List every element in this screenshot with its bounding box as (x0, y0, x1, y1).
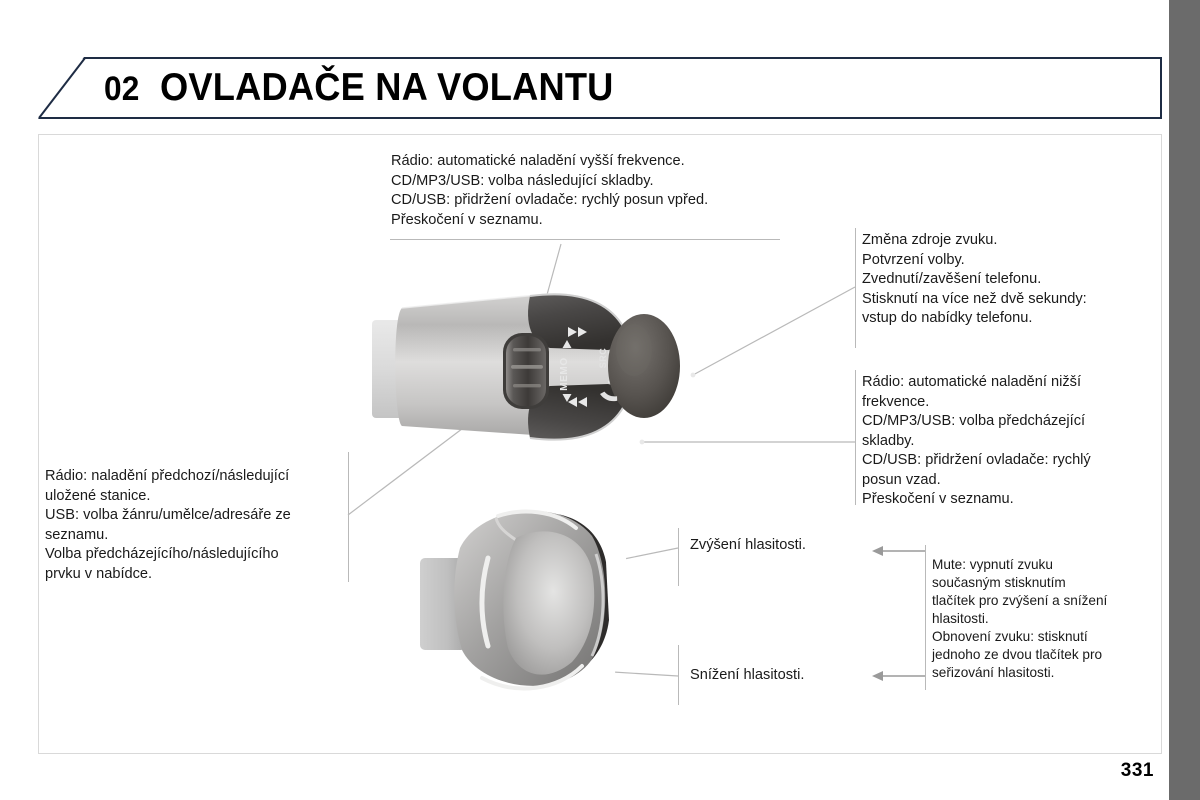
callout-line: tlačítek pro zvýšení a snížení (932, 592, 1162, 610)
callout-line: Zvednutí/zavěšení telefonu. (862, 270, 1152, 290)
separator-right-lower (855, 370, 856, 505)
callout-line: Stisknutí na více než dvě sekundy: (862, 290, 1152, 310)
callout-line: Rádio: automatické naladění vyšší frekve… (391, 152, 791, 172)
separator-mute-block (925, 545, 926, 690)
separator-right-upper (855, 228, 856, 348)
page-number: 331 (1121, 760, 1154, 782)
callout-line: skladby. (862, 432, 1154, 452)
callout-volume-down: Snížení hlasitosti. (690, 667, 804, 683)
callout-top-seek-up: Rádio: automatické naladění vyšší frekve… (391, 152, 791, 230)
volume-rocker-end-view-illustration (420, 492, 670, 712)
callout-line: Rádio: automatické naladění nižší (862, 373, 1154, 393)
callout-line: frekvence. (862, 393, 1154, 413)
callout-line: Rádio: naladění předchozí/následující (45, 467, 345, 487)
src-label: SRC (598, 348, 608, 369)
separator-volume-down (678, 645, 679, 705)
callout-line: jednoho ze dvou tlačítek pro (932, 646, 1162, 664)
callout-line: Volba předcházejícího/následujícího (45, 545, 345, 565)
callout-line: současným stisknutím (932, 574, 1162, 592)
callout-line: prvku v nabídce. (45, 565, 345, 585)
callout-line: CD/USB: přidržení ovladače: rychlý posun… (391, 191, 791, 211)
page-title: 02 OVLADAČE NA VOLANTU (104, 66, 648, 112)
separator-left-column (348, 452, 349, 582)
callout-line: Obnovení zvuku: stisknutí (932, 628, 1162, 646)
callout-line: CD/MP3/USB: volba předcházející (862, 412, 1154, 432)
callout-source-select: Změna zdroje zvuku. Potvrzení volby. Zve… (862, 231, 1152, 329)
callout-line: CD/USB: přidržení ovladače: rychlý (862, 451, 1154, 471)
callout-line: hlasitosti. (932, 610, 1162, 628)
steering-wheel-control-stalk-illustration: SRC MEMO (372, 276, 702, 466)
callout-volume-up: Zvýšení hlasitosti. (690, 537, 806, 553)
callout-line: vstup do nabídky telefonu. (862, 309, 1152, 329)
callout-line: Změna zdroje zvuku. (862, 231, 1152, 251)
separator-volume-up (678, 528, 679, 586)
separator-top-underline (390, 239, 780, 240)
callout-seek-down: Rádio: automatické naladění nižší frekve… (862, 373, 1154, 510)
memo-label: MEMO (559, 357, 570, 391)
callout-line: CD/MP3/USB: volba následující skladby. (391, 172, 791, 192)
callout-line: posun vzad. (862, 471, 1154, 491)
callout-mute: Mute: vypnutí zvuku současným stisknutím… (932, 556, 1162, 682)
callout-line: Přeskočení v seznamu. (391, 211, 791, 231)
page-edge-strip (1169, 0, 1200, 800)
chapter-title: OVLADAČE NA VOLANTU (160, 66, 614, 110)
callout-line: Mute: vypnutí zvuku (932, 556, 1162, 574)
chapter-number: 02 (104, 67, 140, 111)
callout-line: seznamu. (45, 526, 345, 546)
callout-thumbwheel: Rádio: naladění předchozí/následující ul… (45, 467, 345, 584)
thumbwheel (503, 333, 549, 409)
callout-line: Potvrzení volby. (862, 251, 1152, 271)
callout-line: seřizování hlasitosti. (932, 664, 1162, 682)
callout-line: USB: volba žánru/umělce/adresáře ze (45, 506, 345, 526)
callout-line: Přeskočení v seznamu. (862, 490, 1154, 510)
callout-line: uložené stanice. (45, 487, 345, 507)
